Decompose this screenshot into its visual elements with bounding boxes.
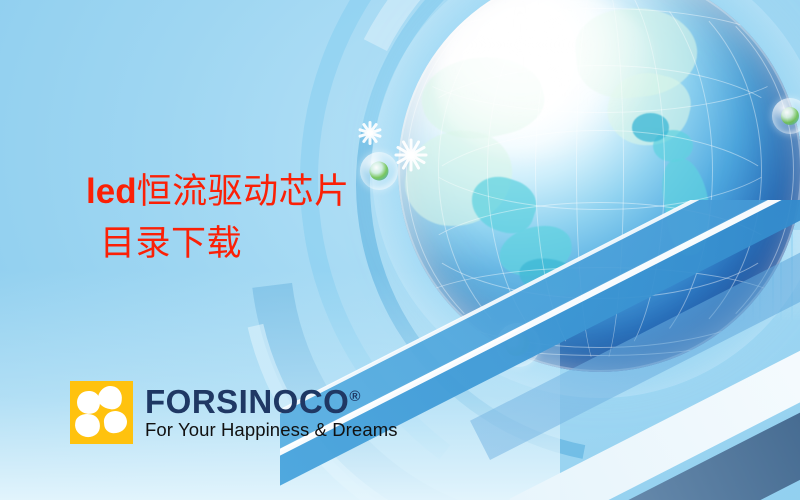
bubble-globe-inner: [370, 162, 389, 181]
headline-latin: led: [86, 172, 137, 211]
headline-line-2: 目录下载: [86, 218, 350, 270]
headline: led恒流驱动芯片 目录下载: [86, 166, 350, 270]
headline-cjk: 恒流驱动芯片: [137, 172, 350, 211]
logo-text-block: FORSINOCO® For Your Happiness & Dreams: [145, 385, 398, 440]
brand-name-row: FORSINOCO®: [145, 385, 361, 418]
promo-banner: led恒流驱动芯片 目录下载 FORSINOCO® For Your Happi…: [0, 0, 800, 500]
daisy-starburst-icon: [358, 120, 384, 146]
headline-line-1: led恒流驱动芯片: [86, 172, 350, 211]
pinwheel-flower-icon: [70, 381, 133, 444]
diagonal-bands-group: [280, 200, 800, 500]
company-logo: FORSINOCO® For Your Happiness & Dreams: [70, 381, 398, 444]
daisy-starburst-icon: [394, 137, 430, 173]
bubble-globe-inner: [781, 107, 799, 125]
petal-1: [97, 384, 124, 410]
registered-trademark-icon: ®: [349, 388, 361, 405]
petal-4: [73, 412, 102, 439]
brand-tagline: For Your Happiness & Dreams: [145, 421, 398, 440]
bubble-globe-icon: [772, 98, 800, 134]
bubble-globe-icon: [360, 152, 398, 190]
brand-name: FORSINOCO: [145, 383, 349, 420]
petal-2: [103, 410, 128, 434]
